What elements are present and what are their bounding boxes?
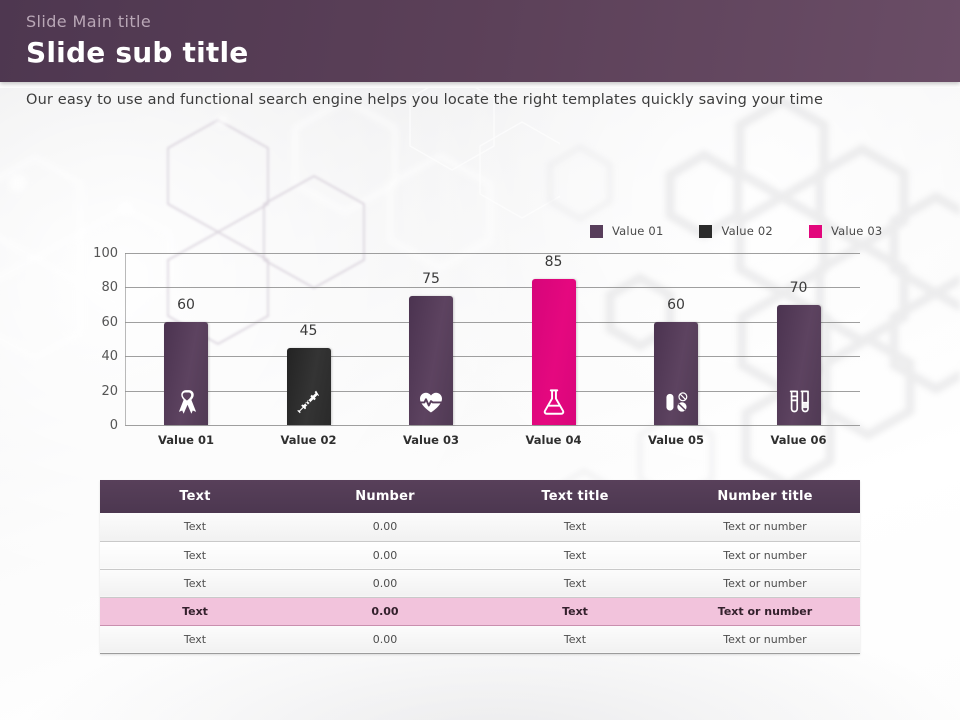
page-sub-title: Slide sub title	[26, 36, 249, 69]
table-header-cell-3: Number title	[670, 480, 860, 513]
bar-value-label-3: 75	[422, 271, 440, 287]
bar-slot-4: 85 Value 04	[493, 253, 615, 425]
table-cell: Text or number	[670, 569, 860, 597]
bar-3[interactable]	[409, 296, 453, 425]
bar-category-label-1: Value 01	[158, 433, 214, 447]
gridline-0	[125, 425, 860, 426]
bar-slot-1: 60 Value 01	[125, 253, 247, 425]
slide-header: Slide Main title Slide sub title	[0, 0, 960, 82]
table-cell: Text	[480, 597, 670, 625]
y-axis-tick-40: 40	[78, 350, 118, 363]
y-axis-tick-100: 100	[78, 247, 118, 260]
bar-category-label-6: Value 06	[771, 433, 827, 447]
bar-slot-6: 70 Value 06	[738, 253, 860, 425]
table-cell: Text	[480, 625, 670, 653]
table-cell: Text or number	[670, 625, 860, 653]
test-tubes-icon	[786, 388, 812, 416]
table-cell: Text or number	[670, 597, 860, 625]
table-cell: Text	[100, 541, 290, 569]
bar-category-label-5: Value 05	[648, 433, 704, 447]
legend-item-value03[interactable]: Value 03	[809, 224, 882, 238]
table-header-row: Text Number Text title Number title	[100, 480, 860, 513]
table-cell: 0.00	[290, 625, 480, 653]
legend-label-value02: Value 02	[721, 224, 772, 238]
syringe-icon	[296, 388, 322, 416]
chart-bars: 60 Value 01 45 V	[125, 253, 860, 425]
flask-icon	[541, 388, 567, 416]
legend-item-value01[interactable]: Value 01	[590, 224, 663, 238]
bar-category-label-4: Value 04	[526, 433, 582, 447]
bar-value-label-5: 60	[667, 297, 685, 313]
table-cell: Text	[100, 625, 290, 653]
table-cell: Text	[100, 597, 290, 625]
legend-swatch-value03	[809, 225, 822, 238]
bar-2[interactable]	[287, 348, 331, 425]
table-cell: 0.00	[290, 569, 480, 597]
bar-1[interactable]	[164, 322, 208, 425]
bar-4[interactable]	[532, 279, 576, 425]
bar-slot-5: 60 Value 05	[615, 253, 737, 425]
bar-slot-2: 45 Value 02	[248, 253, 370, 425]
table-cell: Text or number	[670, 513, 860, 541]
ribbon-icon	[173, 388, 199, 416]
bar-value-label-2: 45	[300, 323, 318, 339]
pills-icon	[663, 388, 689, 416]
table-row[interactable]: Text 0.00 Text Text or number	[100, 541, 860, 569]
bar-value-label-4: 85	[545, 254, 563, 270]
table-header-cell-2: Text title	[480, 480, 670, 513]
legend-label-value03: Value 03	[831, 224, 882, 238]
table-header-cell-1: Number	[290, 480, 480, 513]
bar-chart: Value 01 Value 02 Value 03 100 80 60 40	[0, 215, 960, 455]
legend-item-value02[interactable]: Value 02	[699, 224, 772, 238]
chart-legend: Value 01 Value 02 Value 03	[590, 223, 918, 239]
bar-6[interactable]	[777, 305, 821, 425]
y-axis-tick-0: 0	[78, 419, 118, 432]
data-table: Text Number Text title Number title Text…	[100, 480, 860, 654]
table-cell: Text	[480, 541, 670, 569]
y-axis-tick-80: 80	[78, 281, 118, 294]
table-row[interactable]: Text 0.00 Text Text or number	[100, 569, 860, 597]
table-row-highlighted[interactable]: Text 0.00 Text Text or number	[100, 597, 860, 625]
legend-swatch-value02	[699, 225, 712, 238]
y-axis-tick-20: 20	[78, 385, 118, 398]
y-axis-tick-60: 60	[78, 316, 118, 329]
chart-plot-area: 100 80 60 40 20 0 60 Value 01	[125, 253, 860, 425]
slide-canvas: Slide Main title Slide sub title Our eas…	[0, 0, 960, 720]
bar-category-label-3: Value 03	[403, 433, 459, 447]
page-main-title: Slide Main title	[26, 12, 151, 31]
bar-5[interactable]	[654, 322, 698, 425]
bar-category-label-2: Value 02	[281, 433, 337, 447]
heart-pulse-icon	[418, 388, 444, 416]
table-cell: Text	[100, 513, 290, 541]
bar-value-label-1: 60	[177, 297, 195, 313]
table-cell: 0.00	[290, 541, 480, 569]
bar-slot-3: 75 Value 03	[370, 253, 492, 425]
table-cell: 0.00	[290, 513, 480, 541]
table-cell: Text	[100, 569, 290, 597]
table-header-cell-0: Text	[100, 480, 290, 513]
table-cell: Text or number	[670, 541, 860, 569]
table-cell: Text	[480, 513, 670, 541]
table-row[interactable]: Text 0.00 Text Text or number	[100, 625, 860, 653]
table-row[interactable]: Text 0.00 Text Text or number	[100, 513, 860, 541]
legend-label-value01: Value 01	[612, 224, 663, 238]
intro-text: Our easy to use and functional search en…	[26, 92, 906, 118]
legend-swatch-value01	[590, 225, 603, 238]
table-cell: Text	[480, 569, 670, 597]
table-cell: 0.00	[290, 597, 480, 625]
bar-value-label-6: 70	[790, 280, 808, 296]
